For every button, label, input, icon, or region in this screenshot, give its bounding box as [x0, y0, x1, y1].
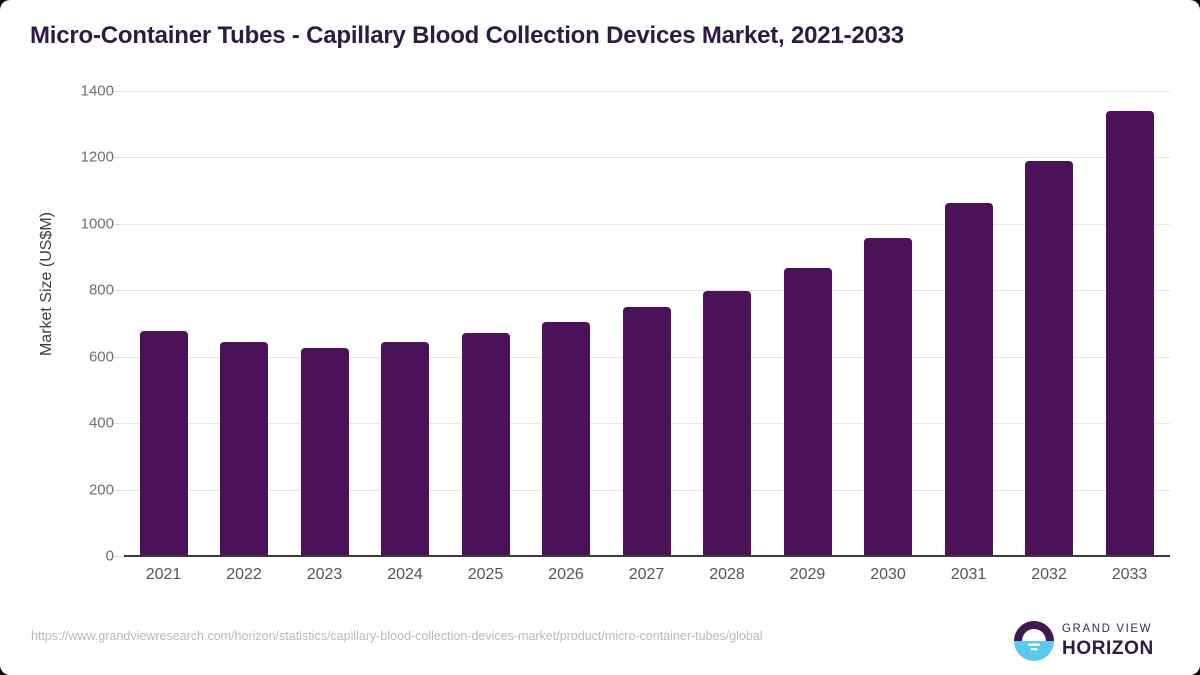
logo-line-grand-view: GRAND VIEW [1062, 624, 1154, 636]
plot-area [124, 91, 1170, 556]
grand-view-horizon-logo-icon [1014, 621, 1054, 661]
y-axis-tick-label: 1400 [34, 83, 114, 100]
y-axis-tick-label: 0 [34, 548, 114, 565]
x-axis-tick-label-2025: 2025 [441, 566, 531, 584]
x-axis-tick-label-2023: 2023 [280, 566, 370, 584]
x-axis-tick-label-2027: 2027 [602, 566, 692, 584]
bar-2031[interactable] [945, 203, 993, 556]
bar-2029[interactable] [784, 268, 832, 556]
bar-2030[interactable] [864, 238, 912, 556]
x-axis-tick-label-2029: 2029 [763, 566, 853, 584]
bar-2025[interactable] [462, 333, 510, 556]
page-title: Micro-Container Tubes - Capillary Blood … [30, 22, 904, 50]
bar-2023[interactable] [301, 348, 349, 556]
gridline [124, 157, 1170, 158]
x-axis-tick-label-2032: 2032 [1004, 566, 1094, 584]
logo-line-horizon: HORIZON [1062, 639, 1154, 658]
bar-2022[interactable] [220, 342, 268, 556]
bar-2021[interactable] [140, 331, 188, 556]
x-axis-tick-label-2022: 2022 [199, 566, 289, 584]
chart-page: Micro-Container Tubes - Capillary Blood … [0, 0, 1200, 675]
source-url[interactable]: https://www.grandviewresearch.com/horizo… [31, 628, 931, 645]
bar-2026[interactable] [542, 322, 590, 556]
x-axis-line [124, 555, 1170, 557]
gridline [124, 290, 1170, 291]
bar-2032[interactable] [1025, 161, 1073, 556]
x-axis-tick-label-2031: 2031 [924, 566, 1014, 584]
y-axis-tick-label: 1200 [34, 149, 114, 166]
y-axis-tick-label: 400 [34, 415, 114, 432]
bar-2033[interactable] [1106, 111, 1154, 556]
bar-2024[interactable] [381, 342, 429, 556]
x-axis-tick-label-2030: 2030 [843, 566, 933, 584]
y-axis-line [123, 91, 124, 556]
y-axis-tick-label: 600 [34, 348, 114, 365]
logo-text: GRAND VIEW HORIZON [1062, 624, 1154, 658]
gridline [124, 224, 1170, 225]
brand-logo: GRAND VIEW HORIZON [1014, 621, 1154, 661]
x-axis-tick-label-2026: 2026 [521, 566, 611, 584]
y-axis-tick-label: 800 [34, 282, 114, 299]
y-axis-tick-label: 200 [34, 481, 114, 498]
x-axis-tick-label-2033: 2033 [1085, 566, 1175, 584]
gridline [124, 91, 1170, 92]
bar-2027[interactable] [623, 307, 671, 556]
y-axis-tick-label: 1000 [34, 215, 114, 232]
x-axis-tick-label-2024: 2024 [360, 566, 450, 584]
x-axis-tick-label-2021: 2021 [119, 566, 209, 584]
x-axis-tick-label-2028: 2028 [682, 566, 772, 584]
bar-2028[interactable] [703, 291, 751, 556]
